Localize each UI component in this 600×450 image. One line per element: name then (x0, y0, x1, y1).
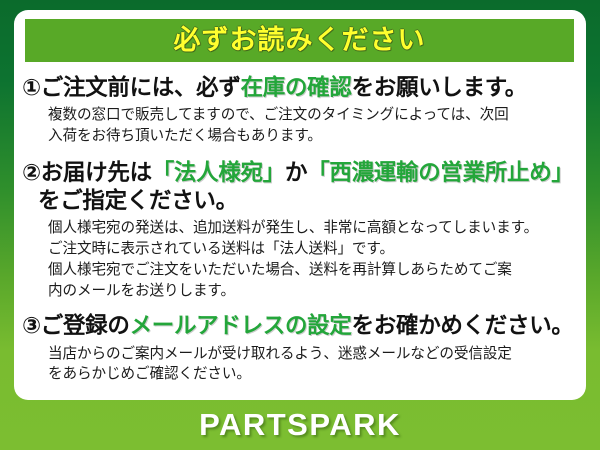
notice-item-3-heading-highlight: メールアドレスの設定 (130, 313, 352, 338)
notice-item-2-heading-line2-text: をご指定ください。 (22, 187, 238, 215)
notice-item-3-marker: ③ (22, 313, 41, 338)
notice-item-1-marker: ① (22, 75, 41, 100)
notice-item-2-heading-highlight-2: 「西濃運輸の営業所止め」 (307, 160, 573, 185)
notice-item-2-heading-line2: をご指定ください。 (22, 187, 576, 215)
notice-item-2-heading: ②お届け先は「法人様宛」か「西濃運輸の営業所止め」 (22, 159, 576, 187)
notice-item-3-body-line-2: をあらかじめご確認ください。 (48, 364, 576, 385)
notice-item-1-body: 複数の窓口で販売してますので、ご注文のタイミングによっては、次回 入荷をお待ち頂… (48, 105, 576, 146)
notice-item-2-body-line-2: ご注文時に表示されている送料は「法人送料」です。 (48, 239, 576, 260)
notice-item-1-body-line-2: 入荷をお待ち頂いただく場合もあります。 (48, 126, 576, 147)
notice-item-2-body-line-3: 個人様宅宛でご注文をいただいた場合、送料を再計算しあらためてご案 (48, 260, 576, 281)
header-banner: 必ずお読みください (25, 19, 574, 62)
notice-item-3: ③ご登録のメールアドレスの設定をお確かめください。 当店からのご案内メールが受け… (22, 312, 576, 385)
notice-item-2-body-line-1: 個人様宅宛の発送は、追加送料が発生し、非常に高額となってしまいます。 (48, 218, 576, 239)
notice-item-3-body: 当店からのご案内メールが受け取れるよう、迷惑メールなどの受信設定 をあらかじめご… (48, 344, 576, 385)
notice-item-2-heading-highlight-1: 「法人様宛」 (152, 160, 285, 185)
notice-item-2-heading-part-1: お届け先は (41, 160, 152, 185)
notice-item-3-heading-part-3: をお確かめください。 (352, 313, 574, 338)
page-title: 必ずお読みください (174, 27, 426, 54)
notice-item-2: ②お届け先は「法人様宛」か「西濃運輸の営業所止め」 をご指定ください。 個人様宅… (22, 159, 576, 302)
notice-item-3-heading-part-1: ご登録の (41, 313, 130, 338)
notice-item-3-body-line-1: 当店からのご案内メールが受け取れるよう、迷惑メールなどの受信設定 (48, 344, 576, 365)
notice-item-1-heading-part-1: ご注文前には、必ず (41, 75, 241, 100)
notice-panel: 必ずお読みください ①ご注文前には、必ず在庫の確認をお願いします。 複数の窓口で… (14, 10, 586, 400)
notice-item-1-heading-highlight: 在庫の確認 (241, 75, 352, 100)
notice-item-2-body: 個人様宅宛の発送は、追加送料が発生し、非常に高額となってしまいます。 ご注文時に… (48, 218, 576, 301)
notice-item-2-body-line-4: 内のメールをお送りします。 (48, 281, 576, 302)
notice-item-1-heading: ①ご注文前には、必ず在庫の確認をお願いします。 (22, 74, 576, 102)
footer-brand-bar: PARTSPARK (0, 400, 600, 450)
notice-body: ①ご注文前には、必ず在庫の確認をお願いします。 複数の窓口で販売してますので、ご… (14, 70, 586, 385)
notice-item-2-heading-part-3: か (285, 160, 307, 185)
notice-item-2-marker: ② (22, 160, 41, 185)
brand-logo-text: PARTSPARK (199, 407, 401, 443)
notice-item-1-body-line-1: 複数の窓口で販売してますので、ご注文のタイミングによっては、次回 (48, 105, 576, 126)
notice-frame: 必ずお読みください ①ご注文前には、必ず在庫の確認をお願いします。 複数の窓口で… (0, 0, 600, 450)
notice-item-1-heading-part-3: をお願いします。 (352, 75, 527, 100)
notice-item-1: ①ご注文前には、必ず在庫の確認をお願いします。 複数の窓口で販売してますので、ご… (22, 74, 576, 147)
notice-item-3-heading: ③ご登録のメールアドレスの設定をお確かめください。 (22, 312, 576, 340)
